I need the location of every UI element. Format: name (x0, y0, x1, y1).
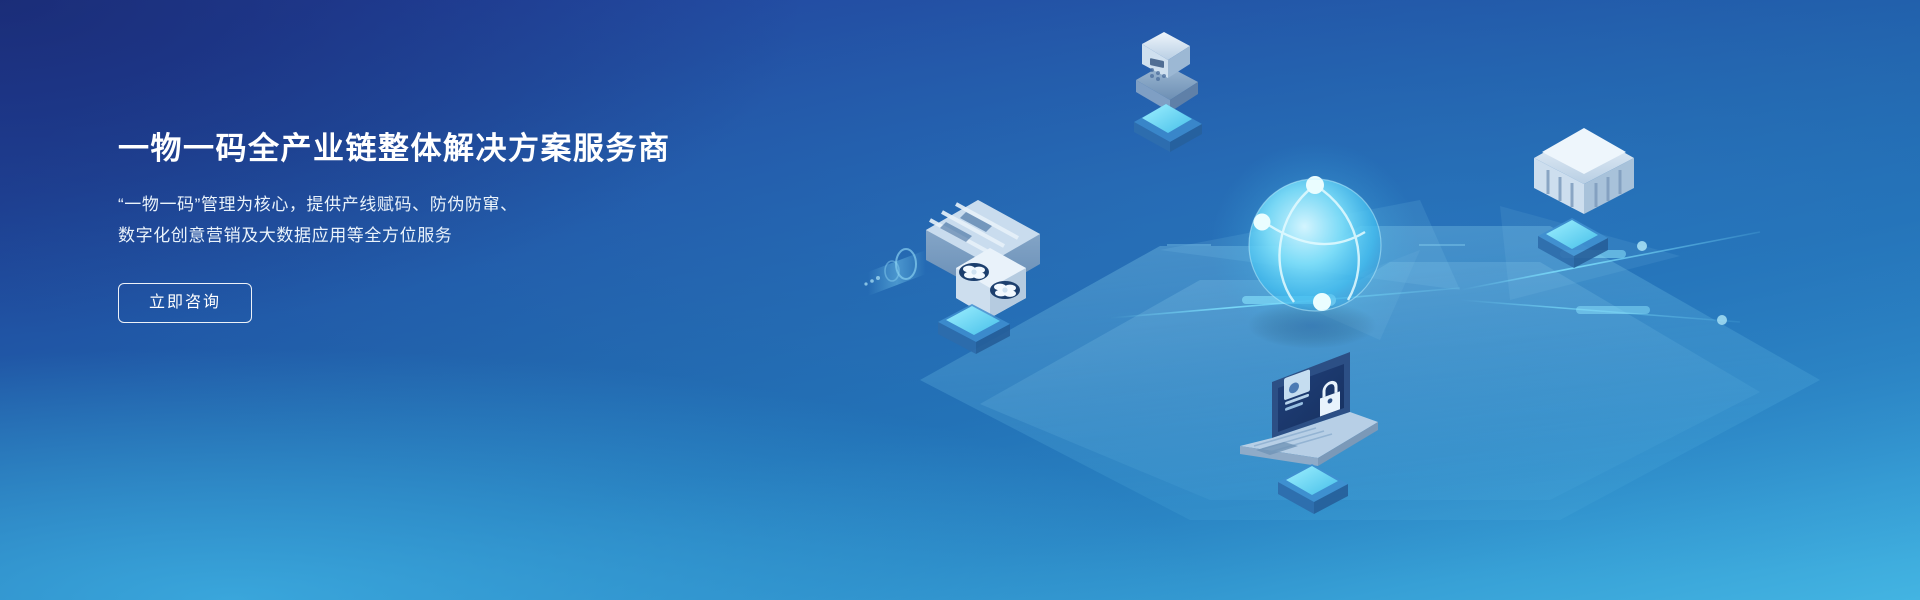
hero-subtitle-line-2: 数字化创意营销及大数据应用等全方位服务 (118, 220, 758, 251)
hero-subtitle-line-1: “一物一码”管理为核心，提供产线赋码、防伪防窜、 (118, 189, 758, 220)
scan-beam (864, 249, 926, 296)
hero-subtitle: “一物一码”管理为核心，提供产线赋码、防伪防窜、 数字化创意营销及大数据应用等全… (118, 189, 758, 251)
hero-copy-block: 一物一码全产业链整体解决方案服务商 “一物一码”管理为核心，提供产线赋码、防伪防… (118, 130, 758, 323)
pos-terminal-pod (1134, 104, 1202, 152)
server-fan-rack-icon (864, 200, 1040, 318)
isometric-illustration (860, 0, 1920, 600)
pos-terminal-icon (1136, 32, 1198, 112)
bank-building-icon (1534, 128, 1634, 214)
hero-banner: 一物一码全产业链整体解决方案服务商 “一物一码”管理为核心，提供产线赋码、防伪防… (0, 0, 1920, 600)
page-title: 一物一码全产业链整体解决方案服务商 (118, 130, 758, 167)
consult-now-button[interactable]: 立即咨询 (118, 283, 252, 323)
